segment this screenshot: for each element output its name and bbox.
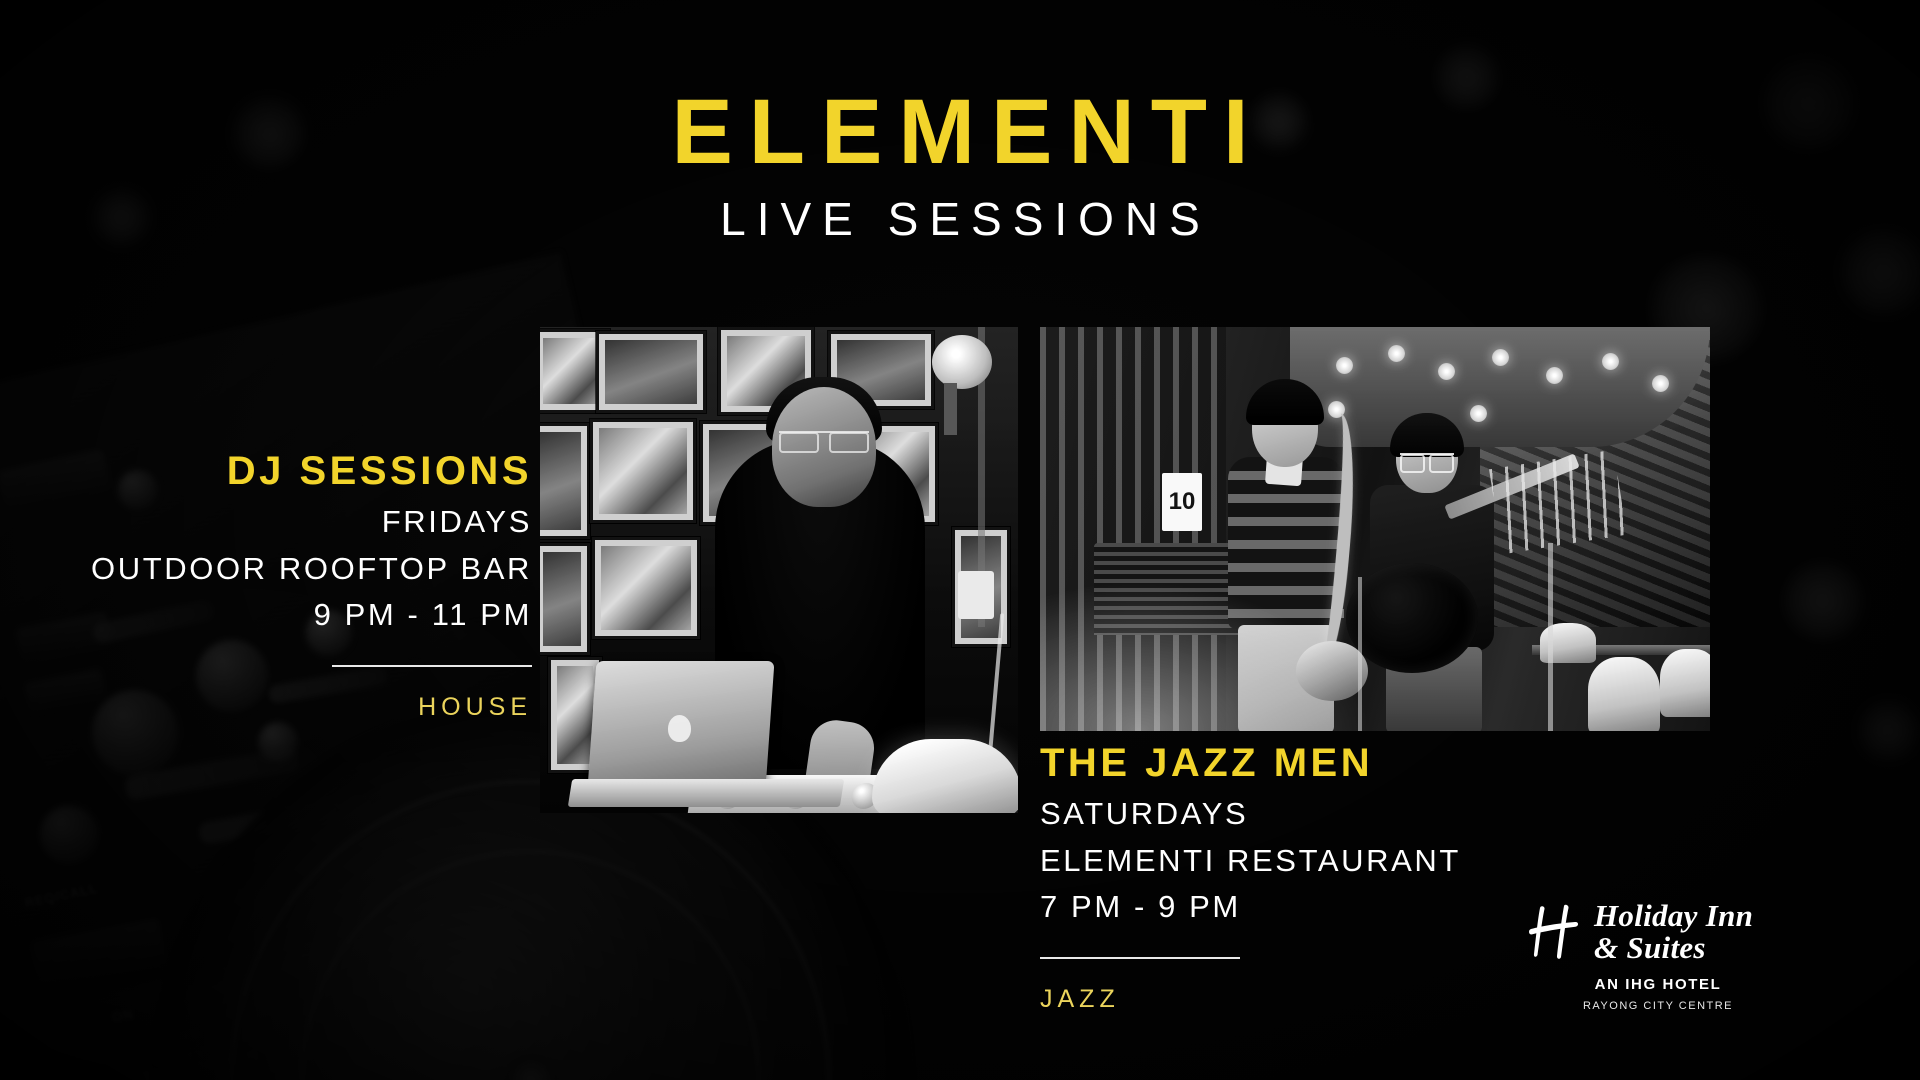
ceiling-spotlight <box>1652 375 1669 392</box>
dining-chair <box>1660 649 1710 717</box>
table-number-sign: 10 <box>1162 473 1202 531</box>
logo-line-holiday-inn: Holiday Inn <box>1594 898 1753 933</box>
music-stand-pole <box>1548 543 1553 731</box>
wall-sconce-arm <box>944 383 957 435</box>
ceiling-spotlight <box>1546 367 1563 384</box>
wall-frame <box>590 419 696 523</box>
foreground-light-glow <box>1040 581 1370 731</box>
act-venue-dj: OUTDOOR ROOFTOP BAR <box>12 549 532 589</box>
act-genre-dj: HOUSE <box>12 695 532 720</box>
wall-outlet <box>958 571 994 619</box>
act-name-dj: DJ SESSIONS <box>12 450 532 492</box>
logo-line-ihg-hotel: AN IHG HOTEL <box>1528 976 1788 993</box>
sax-player-hair <box>1246 379 1324 425</box>
act-venue-jazz: ELEMENTI RESTAURANT <box>1040 841 1600 881</box>
poster-canvas: REQ/CALL ON FWD REV TRACK SEARCH ELEMENT… <box>0 0 1920 1080</box>
ceiling-spotlight <box>1388 345 1405 362</box>
guitar-player <box>1370 413 1506 731</box>
logo-line-and-suites: & Suites <box>1594 930 1706 965</box>
holiday-inn-h-mark-icon <box>1528 902 1582 967</box>
wall-frame <box>596 331 706 413</box>
guitar-player-glasses <box>1400 453 1454 466</box>
ceiling-spotlight <box>1602 353 1619 370</box>
guitar-player-hair <box>1390 413 1464 457</box>
jazz-session-details: THE JAZZ MEN SATURDAYS ELEMENTI RESTAURA… <box>1040 742 1600 1012</box>
ceiling-spotlight <box>1438 363 1455 380</box>
logo-line-location: RAYONG CITY CENTRE <box>1528 1000 1788 1012</box>
wall-frame <box>540 543 590 655</box>
wall-sconce-light <box>932 335 992 389</box>
act-name-jazz: THE JAZZ MEN <box>1040 742 1600 784</box>
act-genre-jazz: JAZZ <box>1040 987 1600 1012</box>
jazz-session-photo: 10 <box>1040 327 1710 731</box>
ceiling-spotlight <box>1492 349 1509 366</box>
poster-header: ELEMENTI LIVE SESSIONS <box>0 86 1920 242</box>
divider-jazz <box>1040 957 1240 959</box>
dj-session-photo <box>540 327 1018 813</box>
act-day-dj: FRIDAYS <box>12 502 532 542</box>
poster-subtitle: LIVE SESSIONS <box>0 196 1920 242</box>
act-time-dj: 9 PM - 11 PM <box>12 595 532 635</box>
act-day-jazz: SATURDAYS <box>1040 794 1600 834</box>
dj-laptop-base <box>568 779 844 807</box>
apple-logo-icon <box>668 715 691 742</box>
poster-title: ELEMENTI <box>0 86 1920 178</box>
act-time-jazz: 7 PM - 9 PM <box>1040 887 1600 927</box>
dj-session-details: DJ SESSIONS FRIDAYS OUTDOOR ROOFTOP BAR … <box>12 450 532 720</box>
holiday-inn-logo: Holiday Inn & Suites AN IHG HOTEL RAYONG… <box>1528 900 1788 1012</box>
wall-frame <box>540 423 590 539</box>
dj-glasses <box>779 431 869 446</box>
divider-dj <box>332 665 532 667</box>
wall-frame <box>592 537 700 639</box>
ceiling-spotlight <box>1336 357 1353 374</box>
dining-chair <box>1588 657 1660 731</box>
